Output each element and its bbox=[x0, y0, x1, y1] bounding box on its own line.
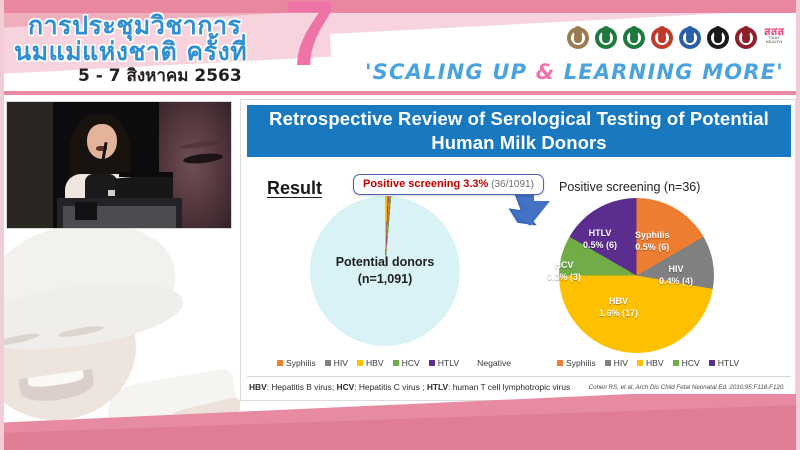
legend-label: HBV bbox=[366, 358, 384, 368]
legend-item-syphilis: Syphilis bbox=[557, 358, 596, 368]
logo-green-health-circle-2-icon bbox=[622, 26, 646, 50]
legend-item-htlv: HTLV bbox=[709, 358, 739, 368]
tagline-ampersand: & bbox=[536, 60, 556, 84]
source-citation: Cohen RS, et al. Arch Dis Child Fetal Ne… bbox=[589, 384, 785, 391]
legend-label: HIV bbox=[334, 358, 348, 368]
pie-slice-label-syphilis: Syphilis0.5% (6) bbox=[635, 230, 670, 253]
legend-swatch-htlv-icon bbox=[429, 360, 435, 366]
speaker-video-feed[interactable] bbox=[6, 101, 232, 229]
logo-thai-royal-seal-icon bbox=[566, 26, 590, 50]
tagline-part1: 'SCALING UP bbox=[365, 60, 536, 84]
legend-item-hcv: HCV bbox=[393, 358, 420, 368]
legend-item-syphilis: Syphilis bbox=[277, 358, 316, 368]
conference-tagline: 'SCALING UP & LEARNING MORE' bbox=[365, 60, 784, 84]
left-pie-label-line1: Potential donors bbox=[310, 254, 460, 271]
left-pie-chart: Potential donors (n=1,091) bbox=[266, 196, 498, 356]
logo-green-health-circle-1-icon bbox=[594, 26, 618, 50]
abbr-hbv: HBV bbox=[249, 382, 267, 392]
abbr-htlv-def: : human T cell lymphotropic virus bbox=[448, 382, 570, 392]
conference-header-banner: 7 การประชุมวิชาการ นมแม่แห่งชาติ ครั้งที… bbox=[0, 0, 800, 95]
right-pie-title: Positive screening (n=36) bbox=[559, 180, 700, 194]
legend-swatch-hiv-icon bbox=[605, 360, 611, 366]
legend-swatch-syphilis-icon bbox=[557, 360, 563, 366]
legend-swatch-syphilis-icon bbox=[277, 360, 283, 366]
legend-label: HBV bbox=[646, 358, 664, 368]
legend-item-negative: Negative bbox=[468, 358, 511, 368]
footer-pink-band bbox=[0, 394, 800, 450]
sponsor-logo-strip: สสสTHAI HEALTH bbox=[566, 26, 786, 50]
legend-swatch-hiv-icon bbox=[325, 360, 331, 366]
right-edge-rail bbox=[796, 0, 800, 450]
pie-slice-label-htlv: HTLV0.5% (6) bbox=[583, 228, 617, 251]
presentation-slide[interactable]: Retrospective Review of Serological Test… bbox=[240, 99, 796, 401]
left-pie-label-line2: (n=1,091) bbox=[310, 271, 460, 288]
slide-title: Retrospective Review of Serological Test… bbox=[247, 105, 791, 157]
legend-label: Syphilis bbox=[286, 358, 316, 368]
legend-item-hiv: HIV bbox=[325, 358, 348, 368]
pie-slice-label-hiv: HIV0.4% (4) bbox=[659, 264, 693, 287]
conference-date: 5 - 7 สิงหาคม 2563 bbox=[78, 62, 242, 89]
abbr-hcv-def: : Hepatitis C virus ; bbox=[354, 382, 427, 392]
legend-item-hiv: HIV bbox=[605, 358, 628, 368]
left-pie-center-label: Potential donors (n=1,091) bbox=[310, 254, 460, 288]
legend-swatch-hbv-icon bbox=[357, 360, 363, 366]
right-pie-chart: HTLV0.5% (6) Syphilis0.5% (6) HIV0.4% (4… bbox=[541, 198, 741, 356]
abbr-hbv-def: : Hepatitis B virus; bbox=[267, 382, 337, 392]
legend-swatch-hcv-icon bbox=[393, 360, 399, 366]
laptop-edge bbox=[119, 172, 173, 177]
legend-label: HTLV bbox=[438, 358, 459, 368]
legend-label: HTLV bbox=[718, 358, 739, 368]
left-pie-legend: SyphilisHIVHBVHCVHTLVNegative bbox=[277, 358, 511, 368]
legend-swatch-hcv-icon bbox=[673, 360, 679, 366]
right-pie-legend: SyphilisHIVHBVHCVHTLV bbox=[557, 358, 739, 368]
legend-label: HIV bbox=[614, 358, 628, 368]
positive-screening-callout: Positive screening 3.3% (36/1091) bbox=[353, 174, 544, 195]
pie-slice-label-hbv: HBV1.6% (17) bbox=[599, 296, 638, 319]
legend-item-htlv: HTLV bbox=[429, 358, 459, 368]
logo-royal-garuda-emblem-icon bbox=[678, 26, 702, 50]
legend-label: Syphilis bbox=[566, 358, 596, 368]
legend-swatch-htlv-icon bbox=[709, 360, 715, 366]
edition-number: 7 bbox=[284, 0, 335, 80]
callout-primary-text: Positive screening 3.3% bbox=[363, 178, 488, 190]
logo-dark-red-institute-icon bbox=[734, 26, 758, 50]
tagline-part2: LEARNING MORE' bbox=[555, 60, 784, 84]
legend-label: HCV bbox=[682, 358, 700, 368]
video-background-left bbox=[7, 102, 53, 229]
left-edge-rail bbox=[0, 0, 4, 450]
legend-swatch-hbv-icon bbox=[637, 360, 643, 366]
legend-item-hbv: HBV bbox=[357, 358, 384, 368]
legend-item-hbv: HBV bbox=[637, 358, 664, 368]
abbr-hcv: HCV bbox=[337, 382, 355, 392]
abbr-htlv: HTLV bbox=[427, 382, 448, 392]
podium-recess bbox=[75, 202, 97, 220]
header-bottom-stripe bbox=[0, 91, 800, 95]
logo-black-university-seal-icon bbox=[706, 26, 730, 50]
legend-label: Negative bbox=[477, 358, 511, 368]
logo-thaihealth-sss-icon: สสสTHAI HEALTH bbox=[762, 26, 786, 50]
presentation-screen: 7 การประชุมวิชาการ นมแม่แห่งชาติ ครั้งที… bbox=[0, 0, 800, 450]
legend-label: HCV bbox=[402, 358, 420, 368]
callout-secondary-text: (36/1091) bbox=[488, 179, 534, 190]
legend-item-hcv: HCV bbox=[673, 358, 700, 368]
slide-divider bbox=[247, 376, 791, 377]
logo-orange-ministry-emblem-icon bbox=[650, 26, 674, 50]
pie-slice-label-hcv: HCV0.3% (3) bbox=[547, 260, 581, 283]
